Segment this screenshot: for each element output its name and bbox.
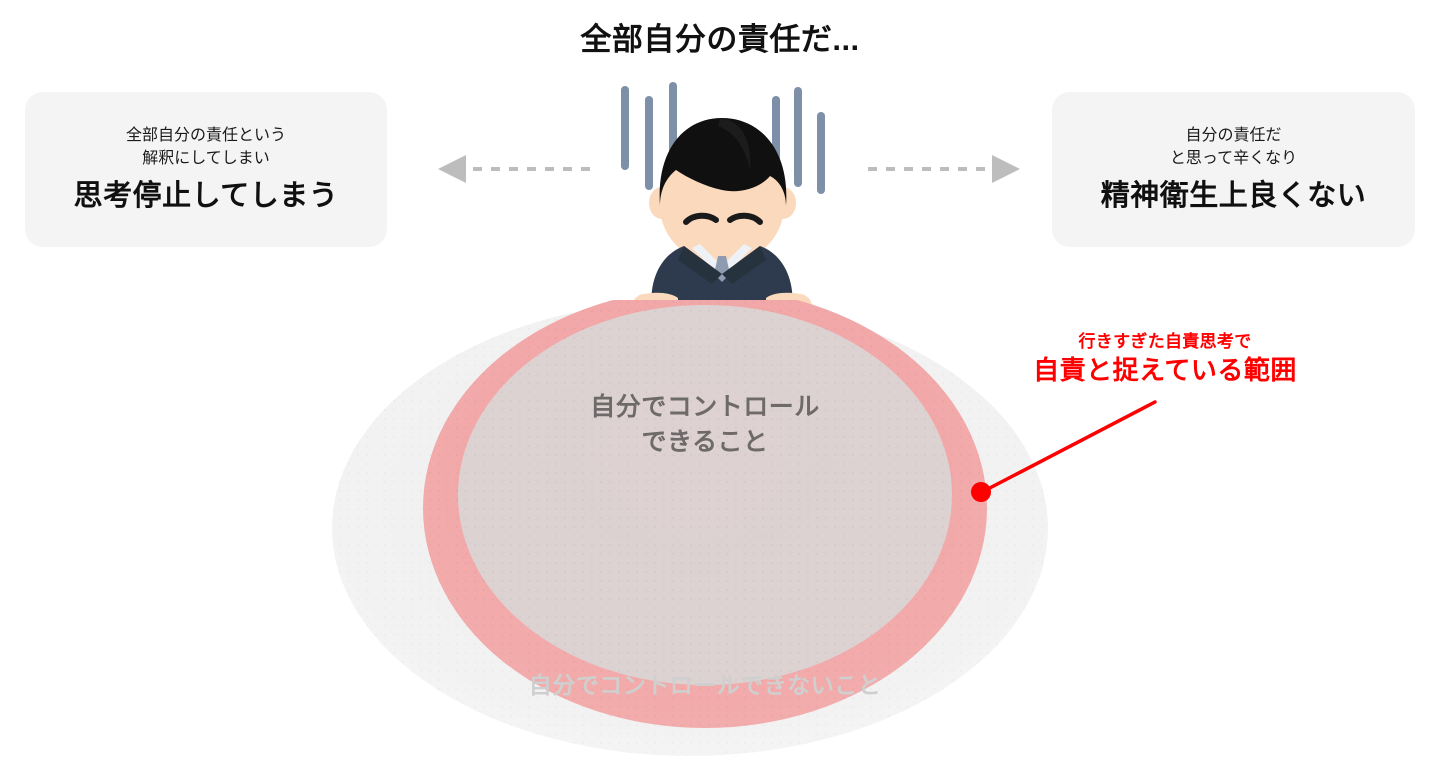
consequence-left-headline: 思考停止してしまう bbox=[74, 177, 339, 215]
annotation-headline: 自責と捉えている範囲 bbox=[1000, 353, 1330, 387]
consequence-left-subtext: 全部自分の責任という 解釈にしてしまい bbox=[126, 124, 286, 170]
annotation-leader-line bbox=[950, 380, 1190, 520]
consequence-left-subtext-line2: 解釈にしてしまい bbox=[142, 150, 270, 167]
consequence-right-headline: 精神衛生上良くない bbox=[1101, 177, 1367, 215]
consequence-box-left: 全部自分の責任という 解釈にしてしまい 思考停止してしまう bbox=[25, 92, 387, 247]
annotation-pointer-dot bbox=[971, 482, 991, 502]
consequence-right-subtext-line2: と思って辛くなり bbox=[1170, 150, 1297, 167]
annotation-self-blame-scope: 行きすぎた自責思考で 自責と捉えている範囲 bbox=[1000, 330, 1330, 387]
consequence-right-subtext-line1: 自分の責任だ bbox=[1185, 127, 1281, 144]
arrow-left-icon bbox=[418, 152, 593, 186]
diagram-canvas: 全部自分の責任だ... 全部自分の責任という 解釈にしてしまい 思考停止してしま… bbox=[0, 0, 1440, 777]
consequence-box-right: 自分の責任だ と思って辛くなり 精神衛生上良くない bbox=[1052, 92, 1415, 247]
annotation-subtext: 行きすぎた自責思考で bbox=[1000, 330, 1330, 353]
consequence-left-subtext-line1: 全部自分の責任という bbox=[126, 127, 286, 144]
inner-ellipse-controllable bbox=[458, 305, 952, 685]
arrow-right-icon bbox=[865, 152, 1040, 186]
depressed-businessman-illustration bbox=[600, 78, 845, 313]
consequence-right-subtext: 自分の責任だ と思って辛くなり bbox=[1170, 124, 1297, 170]
page-title: 全部自分の責任だ... bbox=[0, 20, 1440, 60]
